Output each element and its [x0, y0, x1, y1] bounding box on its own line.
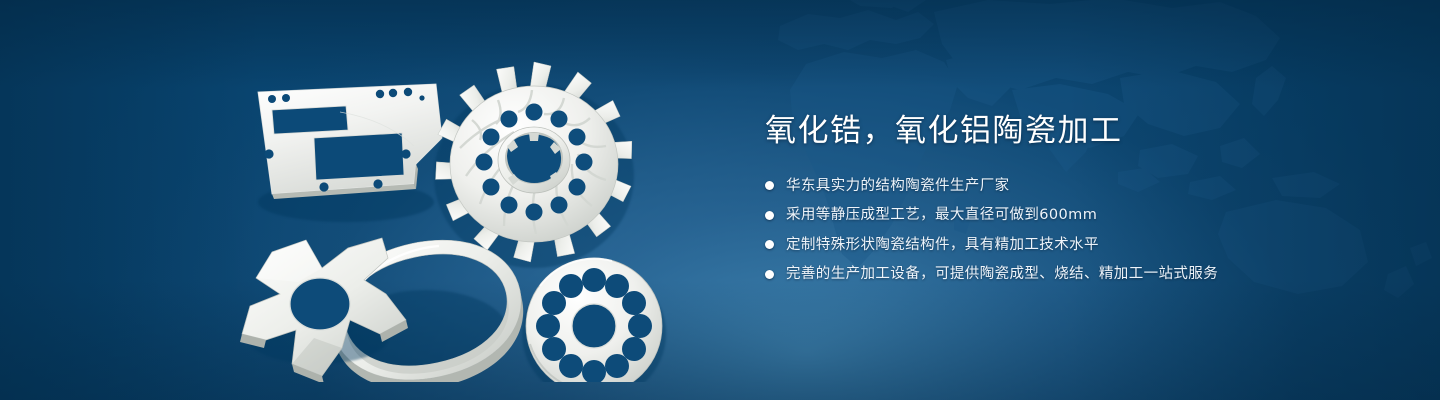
ceramic-base-plate-shape [258, 84, 442, 222]
list-item: 采用等静压成型工艺，最大直径可做到600mm [765, 204, 1325, 226]
list-item-label: 华东具实力的结构陶瓷件生产厂家 [786, 175, 1010, 197]
list-item: 定制特殊形状陶瓷结构件，具有精加工技术水平 [765, 234, 1325, 256]
banner-copy: 氧化锆，氧化铝陶瓷加工 华东具实力的结构陶瓷件生产厂家 采用等静压成型工艺，最大… [765, 112, 1325, 293]
bullet-dot-icon [765, 270, 774, 279]
banner-hero: 氧化锆，氧化铝陶瓷加工 华东具实力的结构陶瓷件生产厂家 采用等静压成型工艺，最大… [0, 0, 1440, 400]
ceramic-impeller-rotor-shape [433, 62, 636, 268]
list-item-label: 定制特殊形状陶瓷结构件，具有精加工技术水平 [786, 234, 1099, 256]
bullet-dot-icon [765, 181, 774, 190]
page-title: 氧化锆，氧化铝陶瓷加工 [765, 112, 1325, 151]
bullet-dot-icon [765, 240, 774, 249]
ceramic-perforated-disc-shape [522, 258, 666, 382]
bullet-dot-icon [765, 211, 774, 220]
list-item-label: 完善的生产加工设备，可提供陶瓷成型、烧结、精加工一站式服务 [786, 263, 1218, 285]
feature-list: 华东具实力的结构陶瓷件生产厂家 采用等静压成型工艺，最大直径可做到600mm 定… [765, 175, 1325, 286]
list-item: 华东具实力的结构陶瓷件生产厂家 [765, 175, 1325, 197]
list-item: 完善的生产加工设备，可提供陶瓷成型、烧结、精加工一站式服务 [765, 263, 1325, 285]
list-item-label: 采用等静压成型工艺，最大直径可做到600mm [786, 204, 1097, 226]
ceramic-products-image [236, 42, 706, 382]
